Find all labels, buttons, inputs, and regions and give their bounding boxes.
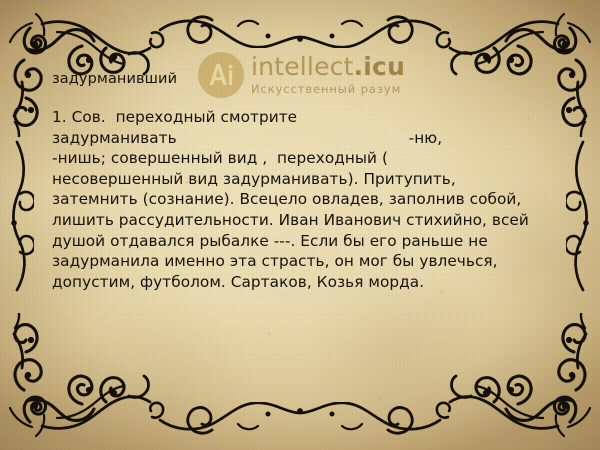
parchment-page: intellect.icu Искусственный разум задурм… [0, 0, 600, 450]
aspect-imperfective: несовершенный вид задурманивать). [52, 170, 359, 188]
see-also-label: смотрите [221, 108, 298, 126]
transitivity-label: переходный [116, 108, 216, 126]
transitivity-label-2: переходный ( [277, 149, 388, 167]
dictionary-entry: задурманивший 1. Сов. переходный смотрит… [52, 70, 552, 292]
entry-headword: задурманивший [52, 70, 552, 88]
inflection-1: -ню, [409, 129, 442, 147]
inflection-2: -нишь; [52, 149, 106, 167]
citation-author: Сартаков, [231, 273, 312, 291]
sense-number: 1. [52, 108, 67, 126]
aspect-label: Сов. [72, 108, 106, 126]
aspect-perfective: совершенный вид , [111, 149, 267, 167]
see-also-word[interactable]: задурманивать [52, 129, 177, 147]
citation-title: Козья морда. [317, 273, 424, 291]
entry-body: 1. Сов. переходный смотритезадурманивать… [52, 107, 530, 292]
